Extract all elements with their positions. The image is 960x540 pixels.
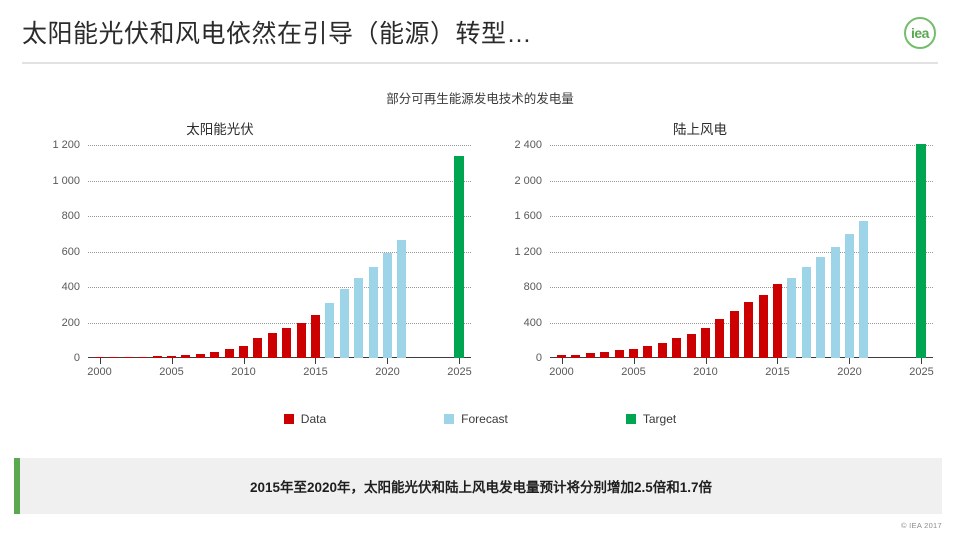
legend-label: Target: [643, 412, 676, 426]
gridline: [550, 181, 933, 182]
bar-data-2007: [658, 343, 667, 358]
bar-data-2015: [773, 284, 782, 358]
header-divider: [22, 62, 938, 64]
bar-forecast-2021: [397, 240, 406, 358]
bar-target-2025: [454, 156, 464, 358]
x-tick-label: 2000: [549, 366, 573, 378]
bar-forecast-2017: [802, 267, 811, 358]
bar-data-2004: [615, 350, 624, 358]
y-tick-label: 400: [524, 317, 542, 329]
y-tick-label: 800: [62, 210, 80, 222]
x-tickmark: [100, 358, 101, 364]
x-tickmark: [777, 358, 778, 364]
x-tick-label: 2025: [909, 366, 933, 378]
x-tickmark: [459, 358, 460, 364]
gridline: [88, 216, 471, 217]
y-tick-label: 1 200: [514, 246, 542, 258]
chart-panel-onshore-wind: 04008001 2001 6002 0002 400 200020052010…: [490, 145, 935, 390]
bar-forecast-2017: [340, 289, 349, 358]
y-tick-label: 800: [524, 281, 542, 293]
page-title: 太阳能光伏和风电依然在引导（能源）转型…: [22, 14, 532, 50]
legend-swatch-forecast-icon: [444, 414, 454, 424]
y-tick-label: 1 200: [52, 139, 80, 151]
x-tickmark: [706, 358, 707, 364]
x-tickmark: [387, 358, 388, 364]
bar-forecast-2016: [787, 278, 796, 358]
bar-data-2010: [701, 328, 710, 358]
x-tickmark: [244, 358, 245, 364]
bar-data-2008: [672, 338, 681, 358]
x-tickmark: [562, 358, 563, 364]
gridline: [88, 181, 471, 182]
gridline: [88, 323, 471, 324]
bar-forecast-2020: [383, 253, 392, 358]
x-tick-label: 2015: [765, 366, 789, 378]
x-tickmark: [315, 358, 316, 364]
y-tick-label: 1 000: [52, 175, 80, 187]
y-axis-solar-pv: 02004006008001 0001 200: [28, 145, 86, 358]
y-tick-label: 1 600: [514, 210, 542, 222]
chart-title-solar-pv: 太阳能光伏: [130, 118, 310, 138]
legend-swatch-target-icon: [626, 414, 636, 424]
x-tickmark: [634, 358, 635, 364]
bar-data-2009: [687, 334, 696, 358]
gridline: [550, 252, 933, 253]
bar-data-2011: [253, 338, 262, 358]
callout-box: 2015年至2020年，太阳能光伏和陆上风电发电量预计将分别增加2.5倍和1.7…: [14, 458, 942, 514]
y-tick-label: 200: [62, 317, 80, 329]
bar-data-2011: [715, 319, 724, 358]
chart-panel-solar-pv: 02004006008001 0001 200 2000200520102015…: [28, 145, 473, 390]
chart-subtitle: 部分可再生能源发电技术的发电量: [0, 88, 960, 107]
bar-data-2014: [297, 323, 306, 359]
plot-area-onshore-wind: [550, 145, 933, 358]
chart-legend: DataForecastTarget: [0, 412, 960, 426]
gridline: [88, 252, 471, 253]
x-tickmark: [172, 358, 173, 364]
gridline: [550, 287, 933, 288]
iea-circle-logo-icon: iea: [904, 17, 942, 55]
y-tick-label: 0: [536, 352, 542, 364]
x-tick-label: 2020: [375, 366, 399, 378]
legend-item-data[interactable]: Data: [284, 412, 326, 426]
gridline: [550, 216, 933, 217]
x-tick-label: 2025: [447, 366, 471, 378]
chart-title-onshore-wind: 陆上风电: [610, 118, 790, 138]
bar-data-2006: [643, 346, 652, 358]
bar-data-2012: [730, 311, 739, 358]
gridline: [88, 145, 471, 146]
logo-wordmark: iea: [911, 25, 929, 41]
bar-data-2012: [268, 333, 277, 358]
legend-label: Data: [301, 412, 326, 426]
bar-forecast-2019: [831, 247, 840, 358]
x-tick-label: 2005: [621, 366, 645, 378]
y-tick-label: 600: [62, 246, 80, 258]
x-tick-label: 2010: [693, 366, 717, 378]
bar-forecast-2020: [845, 234, 854, 358]
x-tickmark: [849, 358, 850, 364]
y-axis-onshore-wind: 04008001 2001 6002 0002 400: [490, 145, 548, 358]
gridline: [550, 323, 933, 324]
x-tick-label: 2000: [87, 366, 111, 378]
copyright-notice: © IEA 2017: [901, 521, 942, 530]
x-tick-label: 2005: [159, 366, 183, 378]
plot-area-solar-pv: [88, 145, 471, 358]
bar-data-2014: [759, 295, 768, 358]
slide-header: 太阳能光伏和风电依然在引导（能源）转型… iea: [0, 0, 960, 64]
bar-data-2015: [311, 315, 320, 358]
gridline: [88, 287, 471, 288]
y-tick-label: 2 000: [514, 175, 542, 187]
x-tick-label: 2020: [837, 366, 861, 378]
y-tick-label: 400: [62, 281, 80, 293]
x-tickmark: [921, 358, 922, 364]
legend-swatch-data-icon: [284, 414, 294, 424]
bar-forecast-2019: [369, 267, 378, 358]
gridline: [550, 145, 933, 146]
x-axis-solar-pv: 200020052010201520202025: [88, 358, 471, 388]
y-tick-label: 2 400: [514, 139, 542, 151]
bar-forecast-2016: [325, 303, 334, 358]
bar-data-2009: [225, 349, 234, 358]
callout-text: 2015年至2020年，太阳能光伏和陆上风电发电量预计将分别增加2.5倍和1.7…: [20, 458, 942, 514]
x-tick-label: 2010: [231, 366, 255, 378]
y-tick-label: 0: [74, 352, 80, 364]
legend-label: Forecast: [461, 412, 508, 426]
x-axis-onshore-wind: 200020052010201520202025: [550, 358, 933, 388]
bar-forecast-2021: [859, 221, 868, 358]
x-tick-label: 2015: [303, 366, 327, 378]
legend-item-target[interactable]: Target: [626, 412, 676, 426]
bar-data-2010: [239, 346, 248, 358]
bar-data-2005: [629, 349, 638, 358]
legend-item-forecast[interactable]: Forecast: [444, 412, 508, 426]
bar-data-2013: [282, 328, 291, 358]
bar-data-2013: [744, 302, 753, 358]
bar-forecast-2018: [354, 278, 363, 358]
bar-forecast-2018: [816, 257, 825, 358]
bar-target-2025: [916, 144, 926, 358]
